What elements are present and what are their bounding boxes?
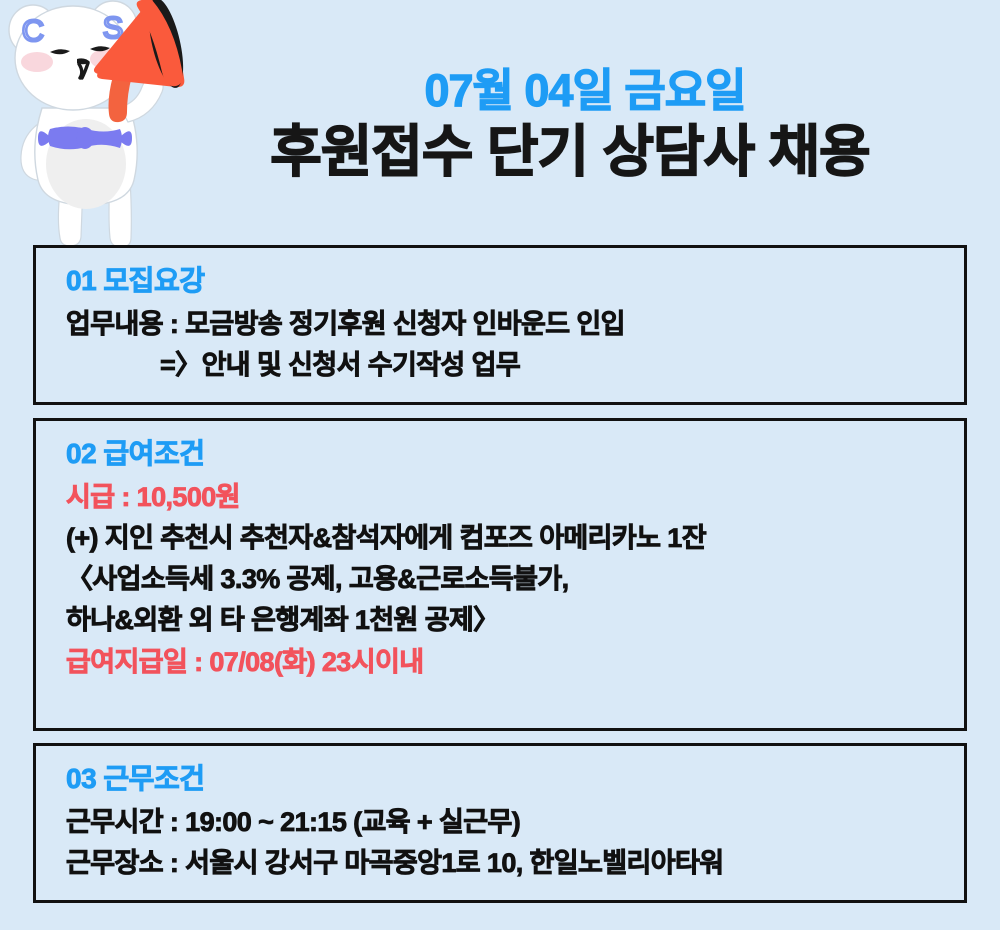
bear-cheek-left	[21, 52, 53, 72]
section-heading-02: 02 급여조건	[66, 432, 964, 472]
section-salary-conditions: 02 급여조건 시급 : 10,500원 (+) 지인 추천시 추천자&참석자에…	[33, 418, 967, 731]
section-heading-03: 03 근무조건	[66, 757, 964, 797]
work-hours-line: 근무시간 : 19:00 ~ 21:15 (교육 + 실근무)	[66, 803, 964, 842]
tax-deduction-line-2: 하나&외환 외 타 은행계좌 1천원 공제〉	[66, 601, 964, 640]
bear-body	[35, 108, 137, 205]
date-line: 07월 04일 금요일	[150, 68, 990, 113]
section-01-line-1: 업무내용 : 모금방송 정기후원 신청자 인바운드 인입	[66, 305, 964, 344]
tax-deduction-line-1: 〈사업소득세 3.3% 공제, 고용&근로소득불가,	[66, 560, 964, 599]
job-posting-poster: C S 07월 04일 금요일 후원접수 단기 상담사 채용	[0, 0, 1000, 930]
bear-cheek-right	[90, 49, 122, 69]
bear-left-arm	[21, 124, 51, 180]
section-recruitment-overview: 01 모집요강 업무내용 : 모금방송 정기후원 신청자 인바운드 인입 =〉안…	[33, 245, 967, 405]
bear-ears	[9, 1, 137, 55]
bear-bowtie	[38, 127, 132, 150]
bear-ear-letter-c: C	[22, 13, 44, 48]
poster-header: 07월 04일 금요일 후원접수 단기 상담사 채용	[150, 68, 990, 182]
bear-head	[15, 6, 131, 110]
bear-eye-left	[50, 49, 70, 54]
bear-legs	[58, 176, 131, 246]
page-title: 후원접수 단기 상담사 채용	[150, 123, 990, 182]
bear-belly	[46, 119, 126, 209]
work-location-line: 근무장소 : 서울시 강서구 마곡중앙1로 10, 한일노벨리아타워	[66, 844, 964, 883]
bear-ear-letter-s: S	[103, 10, 124, 45]
section-work-conditions: 03 근무조건 근무시간 : 19:00 ~ 21:15 (교육 + 실근무) …	[33, 743, 967, 903]
hourly-wage-line: 시급 : 10,500원	[66, 478, 964, 517]
referral-bonus-line: (+) 지인 추천시 추천자&참석자에게 컴포즈 아메리카노 1잔	[66, 519, 964, 558]
section-heading-01: 01 모집요강	[66, 259, 964, 299]
section-01-line-2: =〉안내 및 신청서 수기작성 업무	[160, 346, 964, 385]
bear-eye-right	[90, 46, 110, 51]
megaphone-handle	[109, 76, 133, 122]
bear-muzzle	[77, 58, 90, 78]
payment-date-line: 급여지급일 : 07/08(화) 23시이내	[66, 643, 964, 682]
